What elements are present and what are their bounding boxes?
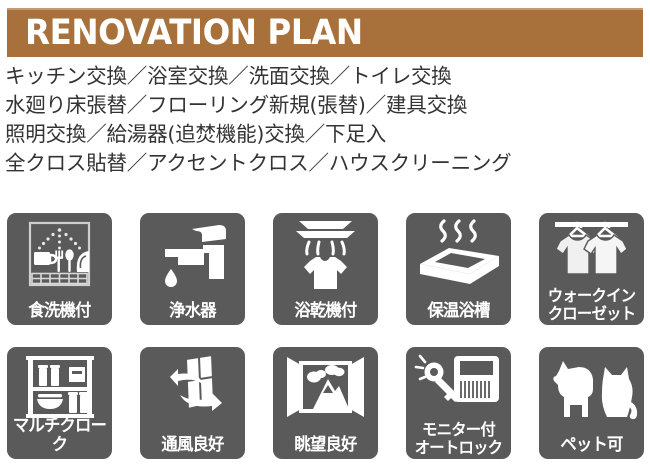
feature-tile-walk-in-closet: ウォークイン クローゼット	[539, 213, 644, 325]
ventilation-window-icon	[140, 351, 245, 425]
faucet-water-purifier-icon	[140, 217, 245, 291]
header-banner: RENOVATION PLAN	[7, 8, 643, 57]
feature-tile-insulated-bathtub: 保温浴槽	[406, 213, 511, 325]
feature-icon-row: 食洗機付	[0, 206, 650, 333]
renovation-plan-graphic: RENOVATION PLAN キッチン交換／浴室交換／洗面交換／トイレ交換 水…	[0, 0, 650, 467]
bathroom-dryer-icon	[273, 217, 378, 291]
monitor-autolock-icon	[406, 350, 511, 412]
feature-tile-label: マルチクローク	[9, 417, 110, 455]
spec-line: キッチン交換／浴室交換／洗面交換／トイレ交換	[5, 62, 645, 91]
page-title: RENOVATION PLAN	[25, 16, 363, 51]
window-view-icon	[273, 351, 378, 425]
feature-tile-dishwasher: 食洗機付	[7, 213, 112, 325]
spec-line: 水廻り床張替／フローリング新規(張替)／建具交換	[5, 91, 645, 120]
feature-tile-label: 保温浴槽	[408, 302, 509, 321]
feature-tile-label: 浄水器	[142, 302, 243, 321]
feature-tile-good-view: 眺望良好	[273, 347, 378, 459]
spec-line: 照明交換／給湯器(追焚機能)交換／下足入	[5, 120, 645, 149]
feature-icon-grid: 食洗機付	[0, 206, 650, 467]
feature-tile-label: ウォークイン クローゼット	[541, 287, 642, 322]
dishwasher-icon	[7, 217, 112, 291]
feature-tile-monitor-autolock: モニター付 オートロック	[406, 347, 511, 459]
spec-line: 全クロス貼替／アクセントクロス／ハウスクリーニング	[5, 149, 645, 178]
feature-tile-pets-allowed: ペット可	[539, 347, 644, 459]
feature-tile-label: 食洗機付	[9, 302, 110, 321]
feature-tile-ventilation: 通風良好	[140, 347, 245, 459]
feature-tile-label: 眺望良好	[275, 436, 376, 455]
feature-tile-label: 通風良好	[142, 436, 243, 455]
feature-tile-water-purifier: 浄水器	[140, 213, 245, 325]
pets-allowed-icon	[539, 351, 644, 425]
feature-icon-row: マルチクローク	[0, 340, 650, 467]
multi-cloak-shelf-icon	[7, 351, 112, 425]
feature-tile-bathroom-dryer: 浴乾機付	[273, 213, 378, 325]
renovation-spec-list: キッチン交換／浴室交換／洗面交換／トイレ交換 水廻り床張替／フローリング新規(張…	[5, 62, 645, 178]
feature-tile-multi-cloak: マルチクローク	[7, 347, 112, 459]
feature-tile-label: ペット可	[541, 436, 642, 455]
insulated-bathtub-icon	[406, 217, 511, 291]
feature-tile-label: 浴乾機付	[275, 302, 376, 321]
walk-in-closet-icon	[539, 216, 644, 278]
feature-tile-label: モニター付 オートロック	[408, 421, 509, 456]
